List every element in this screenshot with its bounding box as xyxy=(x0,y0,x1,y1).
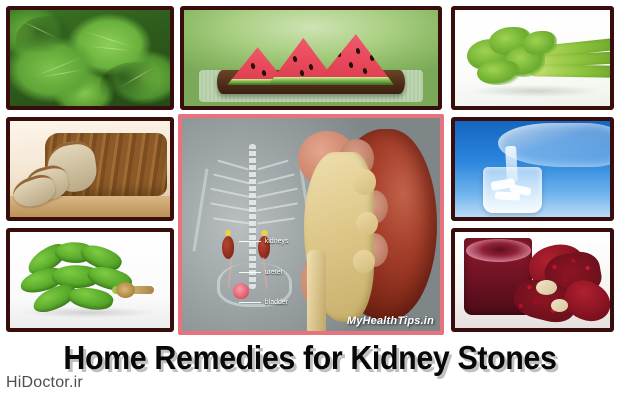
kidney-anatomy-diagram[interactable]: kidneys ureter bladder xyxy=(178,114,444,335)
page-title: Home Remedies for Kidney Stones xyxy=(63,339,556,377)
thumbnail-basil-bunch[interactable] xyxy=(6,228,174,332)
hero-watermark: MyHealthTips.in xyxy=(347,315,434,327)
thumbnail-celery-stalks[interactable] xyxy=(451,6,614,110)
thumbnail-watermelon-slices[interactable] xyxy=(180,6,442,110)
thumbnail-nettle-leaves[interactable] xyxy=(6,6,174,110)
collage-canvas: kidneys ureter bladder xyxy=(0,0,620,400)
thumbnail-glass-of-water[interactable] xyxy=(451,117,614,221)
basil-bunch-photo xyxy=(10,232,170,328)
title-bar: Home Remedies for Kidney Stones xyxy=(0,336,620,380)
watermelon-slices-photo xyxy=(184,10,438,106)
glass-of-water-photo xyxy=(455,121,610,217)
nettle-leaves-photo xyxy=(10,10,170,106)
kidney-cutaway-illustration xyxy=(296,118,440,331)
thumbnail-whole-wheat-bread[interactable] xyxy=(6,117,174,221)
whole-wheat-bread-photo xyxy=(10,121,170,217)
thumbnail-pomegranate-juice[interactable] xyxy=(451,228,614,332)
site-watermark: HiDoctor.ir xyxy=(6,374,83,392)
celery-stalks-photo xyxy=(455,10,610,106)
kidney-anatomy-photo: kidneys ureter bladder xyxy=(182,118,440,331)
pomegranate-juice-photo xyxy=(455,232,610,328)
